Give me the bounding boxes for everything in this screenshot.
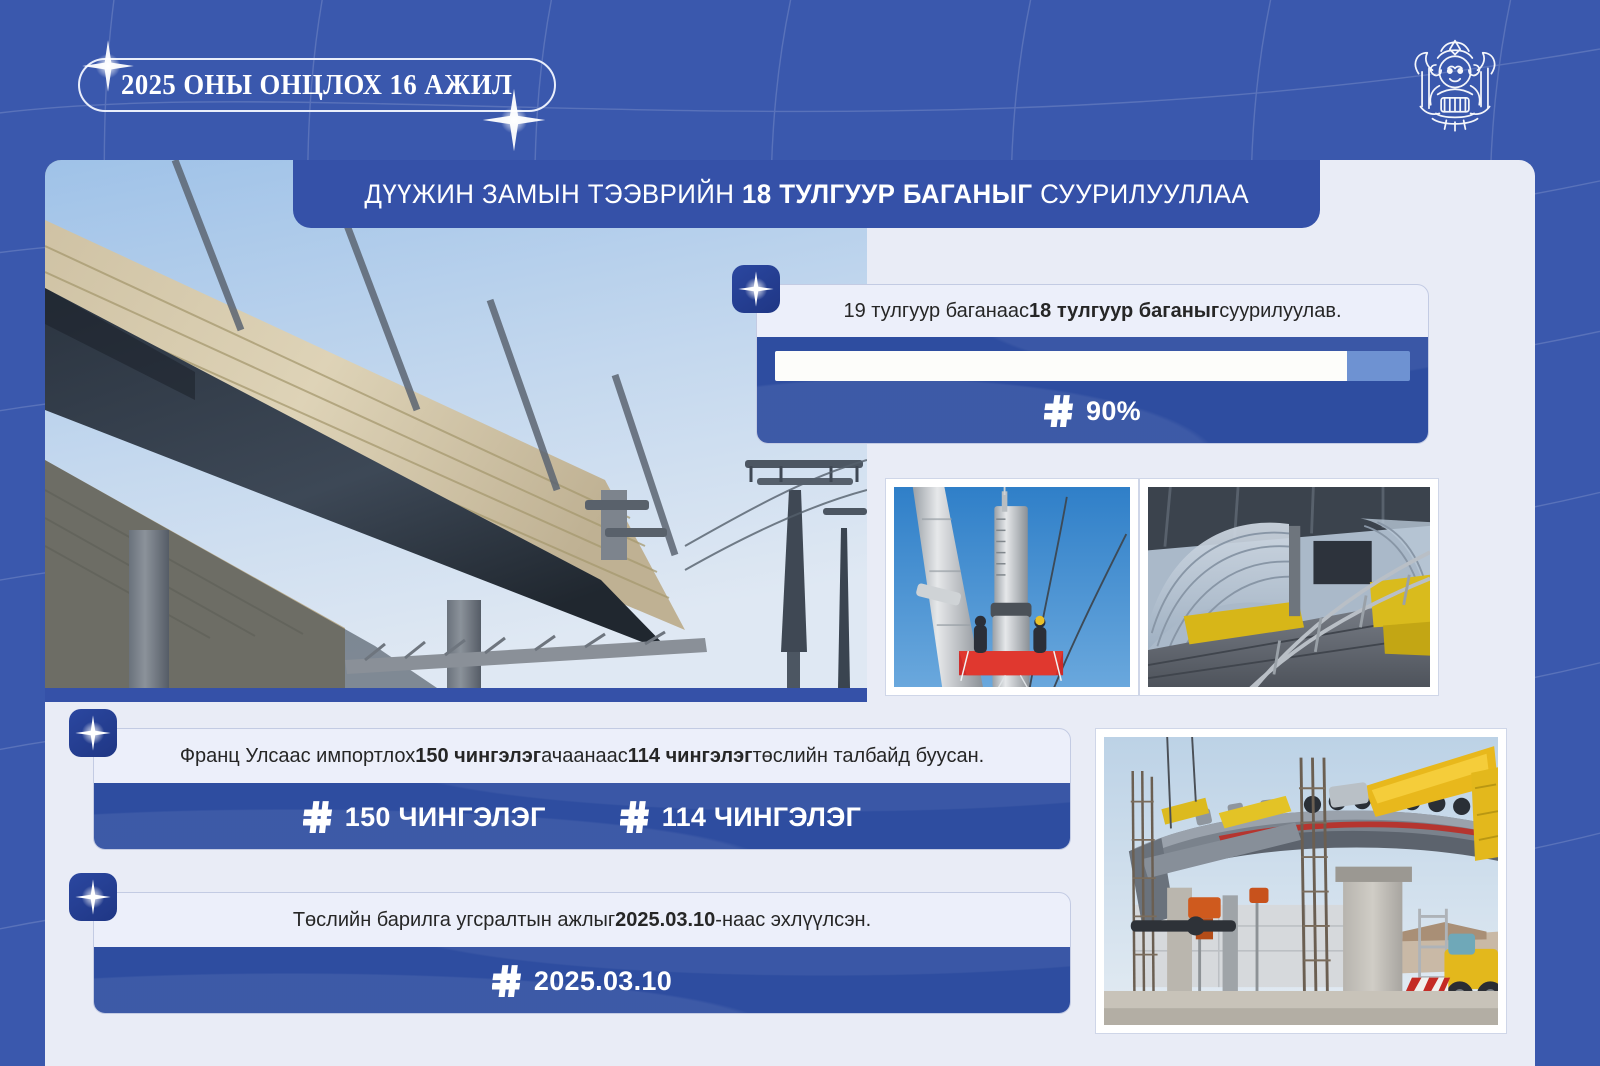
page-title-banner: ДҮҮЖИН ЗАМЫН ТЭЭВРИЙН 18 ТУЛГУУР БАГАНЫГ… [293,160,1320,228]
metric-row: 90% [757,381,1428,441]
hero-photo-divider [45,688,867,702]
metric-containers-arrived: 114 ЧИНГЭЛЭГ [620,801,861,833]
sparkle-icon [71,875,115,919]
photo-station-interior-walkway [1148,487,1430,687]
page-title-highlight: 18 ТУЛГУУР БАГАНЫГ [742,179,1032,209]
card-badge-pillars-installed [732,265,780,313]
hash-icon [492,965,522,997]
page-header: 2025 ОНЫ ОНЦЛОХ 16 АЖИЛ [0,0,1600,160]
metric-row: 2025.03.10 [94,947,1070,1014]
metric-value: 114 ЧИНГЭЛЭГ [662,802,861,833]
header-badge-label: 2025 ОНЫ ОНЦЛОХ 16 АЖИЛ [121,69,512,102]
progress-bar-fill [775,351,1347,381]
metric-value: 2025.03.10 [534,966,672,997]
stat-card-text: 19 тулгуур баганаас 18 тулгуур баганыг с… [757,285,1428,337]
page-title-suffix: СУУРИЛУУЛЛАА [1032,179,1249,209]
hash-icon [620,801,650,833]
progress-bar-track [775,351,1410,381]
page-title: ДҮҮЖИН ЗАМЫН ТЭЭВРИЙН 18 ТУЛГУУР БАГАНЫГ… [364,179,1249,210]
stat-text-prefix: Төслийн барилга угсралтын ажлыг [293,909,615,932]
photo-frame-station-interior-walkway [1139,478,1439,696]
stat-card-metric-area: 90% [757,337,1428,444]
stat-text-highlight-2: 114 чингэлэг [628,745,753,768]
infographic-root: 2025 ОНЫ ОНЦЛОХ 16 АЖИЛ [0,0,1600,1066]
stat-text-highlight: 150 чингэлэг [415,745,541,768]
stat-text-suffix: суурилуулав. [1219,300,1341,323]
photo-construction-site-columns [1104,737,1498,1025]
card-badge-containers-imported [69,709,117,757]
stat-card-metric-area: 2025.03.10 [94,947,1070,1014]
card-badge-construction-start-date [69,873,117,921]
hash-icon [303,801,333,833]
photo-hero-cable-car-station [45,160,867,688]
stat-card-pillars-installed: 19 тулгуур баганаас 18 тулгуур баганыг с… [756,284,1429,444]
photo-pylon-installation [894,487,1130,687]
metric-value: 90% [1086,396,1141,427]
stat-text-suffix: -наас эхлүүлсэн. [715,909,871,932]
metric-value: 150 ЧИНГЭЛЭГ [345,802,546,833]
stat-text-suffix: төслийн талбайд буусан. [753,745,985,768]
stat-card-construction-start-date: Төслийн барилга угсралтын ажлыг 2025.03.… [93,892,1071,1014]
sparkle-icon [734,267,778,311]
stat-text-prefix: 19 тулгуур баганаас [843,300,1029,323]
stat-text-middle: ачаанаас [541,745,628,768]
stat-text-prefix: Франц Улсаас импортлох [180,745,415,768]
mongolian-state-emblem-icon [1403,32,1507,136]
metric-row: 150 ЧИНГЭЛЭГ 114 ЧИНГЭЛЭГ [94,783,1070,850]
stat-card-metric-area: 150 ЧИНГЭЛЭГ 114 ЧИНГЭЛЭГ [94,783,1070,850]
sparkle-icon [71,711,115,755]
stat-card-text: Төслийн барилга угсралтын ажлыг 2025.03.… [94,893,1070,947]
stat-text-highlight: 18 тулгуур баганыг [1029,300,1219,323]
stat-card-containers-imported: Франц Улсаас импортлох 150 чингэлэг ачаа… [93,728,1071,850]
page-title-prefix: ДҮҮЖИН ЗАМЫН ТЭЭВРИЙН [364,179,742,209]
photo-frame-construction-site-columns [1095,728,1507,1034]
header-badge: 2025 ОНЫ ОНЦЛОХ 16 АЖИЛ [78,58,556,112]
stat-text-highlight: 2025.03.10 [615,909,715,932]
content-panel: ДҮҮЖИН ЗАМЫН ТЭЭВРИЙН 18 ТУЛГУУР БАГАНЫГ… [45,160,1535,1066]
hash-icon [1044,395,1074,427]
metric-containers-total: 150 ЧИНГЭЛЭГ [303,801,546,833]
metric-progress-percent: 90% [1044,395,1141,427]
photo-frame-pylon-installation [885,478,1139,696]
stat-card-text: Франц Улсаас импортлох 150 чингэлэг ачаа… [94,729,1070,783]
metric-start-date: 2025.03.10 [492,965,672,997]
